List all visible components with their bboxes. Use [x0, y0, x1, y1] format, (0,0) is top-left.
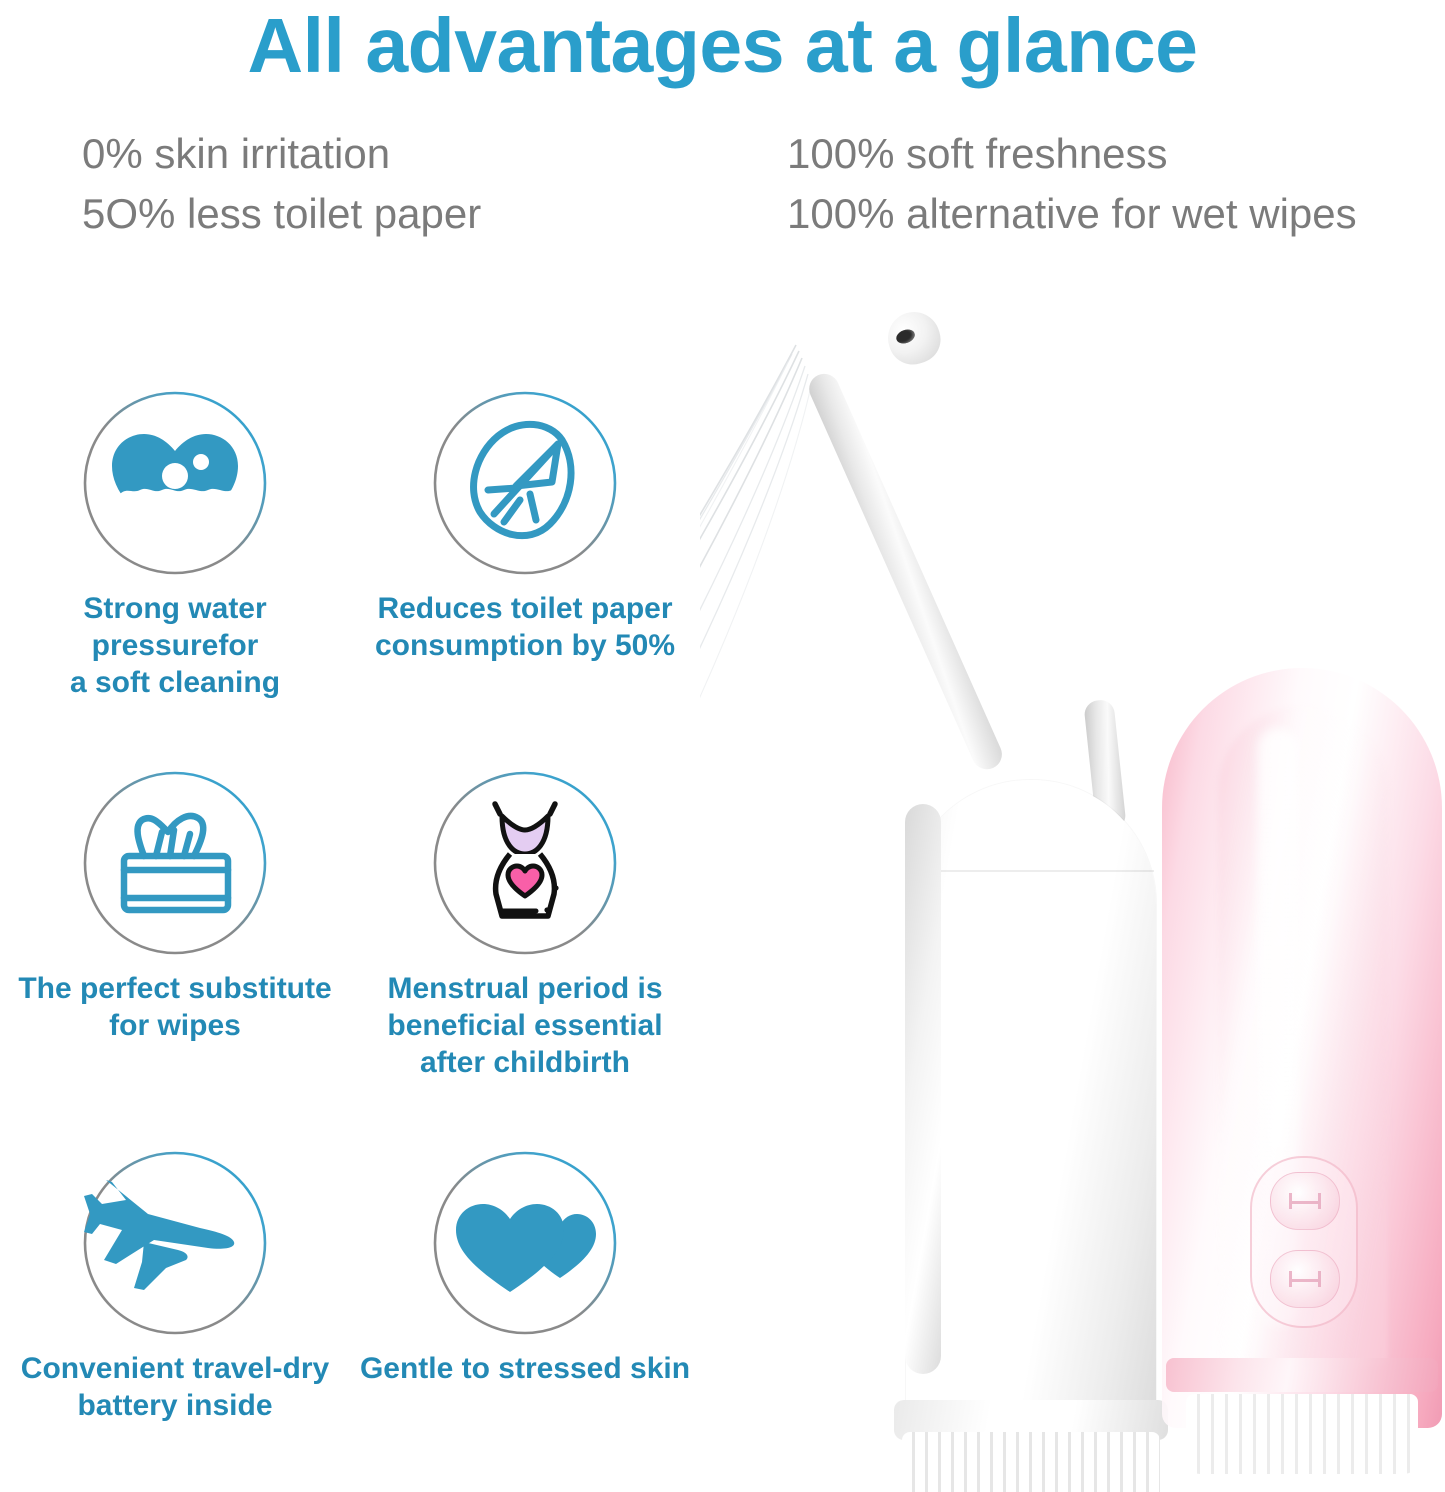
airplane-icon [82, 1150, 268, 1336]
feature-icon-circle [432, 390, 618, 576]
heart-water-bubbles-icon [82, 390, 268, 576]
subtitle-left-2: 5O% less toilet paper [82, 190, 481, 238]
feature-caption: Menstrual period is beneficial essential… [355, 970, 695, 1081]
feature-caption: Reduces toilet paper consumption by 50% [355, 590, 695, 664]
pregnant-woman-torso-icon [432, 770, 618, 956]
pink-travel-cap [1162, 668, 1442, 1492]
subtitle-right-1: 100% soft freshness [787, 130, 1168, 178]
caption-line: for wipes [5, 1007, 345, 1044]
caption-line: Gentle to stressed skin [355, 1350, 695, 1387]
sprayer-side-track [905, 804, 941, 1374]
pink-cap-button-bottom [1270, 1250, 1340, 1308]
subtitle-right-2: 100% alternative for wet wipes [787, 190, 1357, 238]
button-glyph-icon [1289, 1271, 1321, 1287]
sprayer-nozzle-tip [881, 305, 947, 371]
caption-line: Menstrual period is [355, 970, 695, 1007]
feature-item-gentle-to-skin: Gentle to stressed skin [355, 1150, 695, 1387]
feature-item-convenient-travel: Convenient travel-dry battery inside [5, 1150, 345, 1424]
feature-caption: Gentle to stressed skin [355, 1350, 695, 1387]
pink-cap-button-top [1270, 1172, 1340, 1230]
feature-item-perfect-substitute: The perfect substitute for wipes [5, 770, 345, 1044]
caption-line: The perfect substitute [5, 970, 345, 1007]
tissue-box-icon [82, 770, 268, 956]
two-hearts-icon [432, 1150, 618, 1336]
subtitle-left-1: 0% skin irritation [82, 130, 390, 178]
sprayer-nozzle-upper [804, 369, 1006, 774]
sprayer-body [906, 780, 1156, 1420]
infographic-page: All advantages at a glance 0% skin irrit… [0, 0, 1445, 1492]
caption-line: consumption by 50% [355, 627, 695, 664]
sprayer-base-cap [902, 1432, 1160, 1492]
pink-cap-lip [1166, 1358, 1438, 1392]
caption-line: Reduces toilet paper [355, 590, 695, 627]
caption-line: battery inside [5, 1387, 345, 1424]
sprayer-body-seam [908, 870, 1154, 872]
feature-caption: Strong water pressurefor a soft cleaning [5, 590, 345, 701]
white-bidet-sprayer [850, 280, 1190, 1492]
feature-item-menstrual-period: Menstrual period is beneficial essential… [355, 770, 695, 1081]
caption-line: Convenient travel-dry [5, 1350, 345, 1387]
feature-item-strong-water-pressure: Strong water pressurefor a soft cleaning [5, 390, 345, 701]
feature-icon-circle [82, 770, 268, 956]
pink-cap-base [1186, 1394, 1418, 1474]
caption-line: beneficial essential [355, 1007, 695, 1044]
feature-item-reduces-toilet-paper: Reduces toilet paper consumption by 50% [355, 390, 695, 664]
page-title: All advantages at a glance [0, 2, 1445, 91]
caption-line: a soft cleaning [5, 664, 345, 701]
caption-line: after childbirth [355, 1044, 695, 1081]
feature-icon-circle [432, 1150, 618, 1336]
feature-grid: Strong water pressurefor a soft cleaning [0, 390, 722, 1480]
pink-cap-button-panel [1250, 1156, 1358, 1328]
leaf-icon [432, 390, 618, 576]
feature-icon-circle [82, 390, 268, 576]
product-photo-group [700, 250, 1445, 1492]
feature-icon-circle [82, 1150, 268, 1336]
feature-icon-circle [432, 770, 618, 956]
feature-caption: Convenient travel-dry battery inside [5, 1350, 345, 1424]
button-glyph-icon [1289, 1193, 1321, 1209]
feature-caption: The perfect substitute for wipes [5, 970, 345, 1044]
caption-line: Strong water pressurefor [5, 590, 345, 664]
